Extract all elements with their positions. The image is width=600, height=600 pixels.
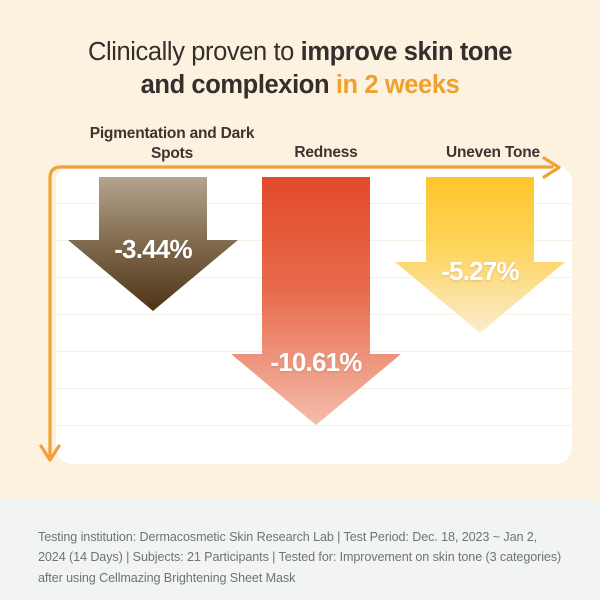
category-label-uneven-tone: Uneven Tone [410, 143, 576, 163]
footer-disclaimer: Testing institution: Dermacosmetic Skin … [38, 527, 568, 588]
category-labels: Pigmentation and Dark Spots Redness Unev… [28, 124, 572, 168]
headline-light-text: Clinically proven to [88, 38, 301, 66]
page-title: Clinically proven to improve skin tone a… [0, 36, 600, 101]
bar-arrow-uneven-tone: -5.27% [395, 177, 565, 469]
headline-line-2: and complexion in 2 weeks [0, 69, 600, 102]
chart-area: -3.44% -10.61% [28, 166, 572, 466]
footer-band: Testing institution: Dermacosmetic Skin … [0, 500, 600, 600]
headline-bold-text-2: and complexion [141, 71, 336, 99]
bar-value-redness: -10.61% [231, 347, 401, 378]
headline-line-1: Clinically proven to improve skin tone [0, 36, 600, 69]
bar-arrow-pigmentation: -3.44% [68, 177, 238, 469]
headline-accent-text: in 2 weeks [336, 71, 460, 99]
bar-value-pigmentation: -3.44% [68, 234, 238, 265]
category-label-redness: Redness [246, 143, 406, 163]
arrow-shape-yellow [395, 177, 565, 469]
category-label-pigmentation: Pigmentation and Dark Spots [74, 124, 270, 165]
arrow-shape-brown [68, 177, 238, 469]
arrow-shape-red [231, 177, 401, 469]
bar-arrow-redness: -10.61% [231, 177, 401, 469]
arrow-path [231, 177, 401, 425]
arrow-path [395, 177, 565, 333]
headline-bold-text: improve skin tone [301, 38, 512, 66]
bar-value-uneven-tone: -5.27% [395, 256, 565, 287]
